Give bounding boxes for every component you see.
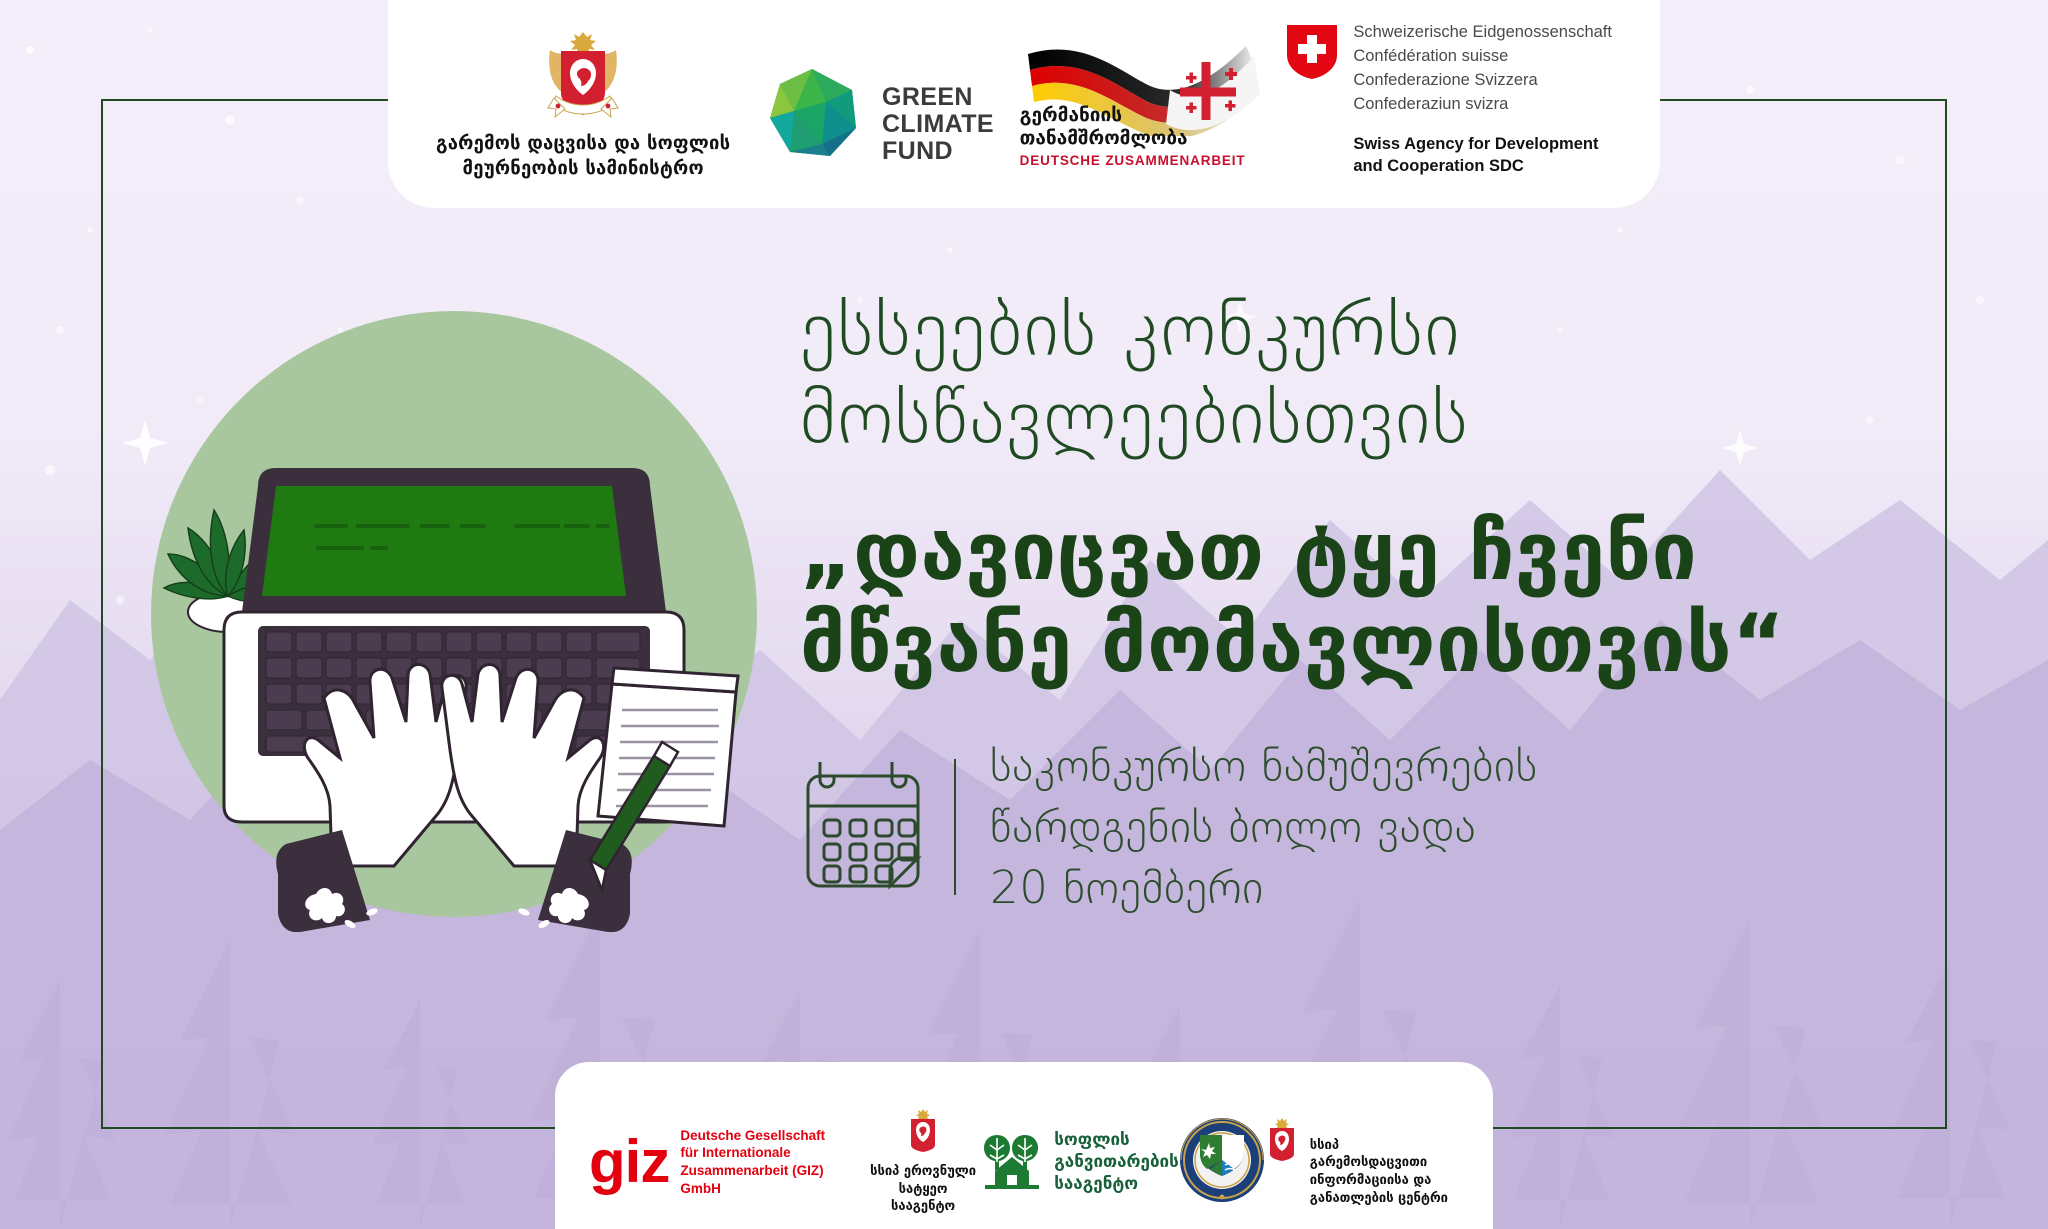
deadline-divider: [954, 759, 956, 895]
footer-partner-logos-card: giz Deutsche Gesellschaft für Internatio…: [555, 1062, 1493, 1229]
partner-logo-giz: giz Deutsche Gesellschaft für Internatio…: [589, 1127, 865, 1197]
georgia-coat-of-arms-icon: [906, 1108, 940, 1156]
circular-shield-emblem-icon: [1179, 1117, 1265, 1207]
partner-label-gcf: GREEN CLIMATE FUND: [882, 84, 994, 165]
main-content: ესსეების კონკურსი მოსწავლეებისთვის „დავი…: [800, 286, 1980, 919]
calendar-icon: [800, 754, 926, 900]
partner-logo-german-cooperation: გერმანიის თანამშრომლობა DEUTSCHE ZUSAMME…: [1020, 32, 1260, 182]
gcf-polygon-sphere-icon: [756, 66, 868, 182]
partner-label-ministry: გარემოს დაცვისა და სოფლის მეურნეობის სამ…: [436, 132, 730, 182]
giz-label: Deutsche Gesellschaft für Internationale…: [680, 1127, 865, 1197]
deadline-text: საკონკურსო ნამუშევრების წარდგენის ბოლო ვ…: [990, 735, 1538, 919]
partner-logo-swiss-cooperation: Schweizerische Eidgenossenschaft Confédé…: [1285, 21, 1612, 182]
partner-logo-rural-development-agency: სოფლის განვითარების სააგენტო: [981, 1129, 1179, 1195]
swiss-shield-icon: [1285, 23, 1339, 85]
illustration-person-typing-on-laptop: [136, 296, 772, 932]
giz-wordmark: giz: [589, 1136, 669, 1189]
environmental-centre-label: სსიპ გარემოსდაცვითი ინფორმაციისა და განა…: [1310, 1137, 1459, 1208]
georgia-coat-of-arms-icon: [1265, 1117, 1299, 1165]
partner-label-swiss-agency: Swiss Agency for Development and Coopera…: [1353, 134, 1612, 178]
tree-house-icon: [981, 1129, 1043, 1195]
partner-label-german-ka: გერმანიის თანამშრომლობა: [1020, 104, 1246, 150]
header-partner-logos-card: გარემოს დაცვისა და სოფლის მეურნეობის სამ…: [388, 0, 1660, 208]
forestry-agency-label: სსიპ ეროვნული სატყეო სააგენტო: [865, 1163, 981, 1216]
partner-label-swiss-languages: Schweizerische Eidgenossenschaft Confédé…: [1353, 21, 1612, 117]
headline-text: „დავიცვათ ტყე ჩვენი მწვანე მომავლისთვის“: [800, 506, 1980, 692]
kicker-text: ესსეების კონკურსი მოსწავლეებისთვის: [800, 286, 1980, 462]
partner-logo-ministry-of-environment: გარემოს დაცვისა და სოფლის მეურნეობის სამ…: [436, 26, 730, 182]
partner-logo-round-emblem: [1179, 1117, 1265, 1207]
partner-logo-national-forestry-agency: სსიპ ეროვნული სატყეო სააგენტო: [865, 1108, 981, 1216]
deadline-block: საკონკურსო ნამუშევრების წარდგენის ბოლო ვ…: [800, 735, 1980, 919]
rural-agency-label: სოფლის განვითარების სააგენტო: [1054, 1129, 1179, 1195]
partner-logo-environmental-info-centre: სსიპ გარემოსდაცვითი ინფორმაციისა და განა…: [1265, 1117, 1459, 1208]
partner-logo-green-climate-fund: GREEN CLIMATE FUND: [756, 66, 994, 182]
georgia-coat-of-arms-icon: [540, 26, 626, 122]
poster-canvas: გარემოს დაცვისა და სოფლის მეურნეობის სამ…: [0, 0, 2048, 1229]
partner-label-german-de: DEUTSCHE ZUSAMMENARBEIT: [1020, 153, 1246, 168]
